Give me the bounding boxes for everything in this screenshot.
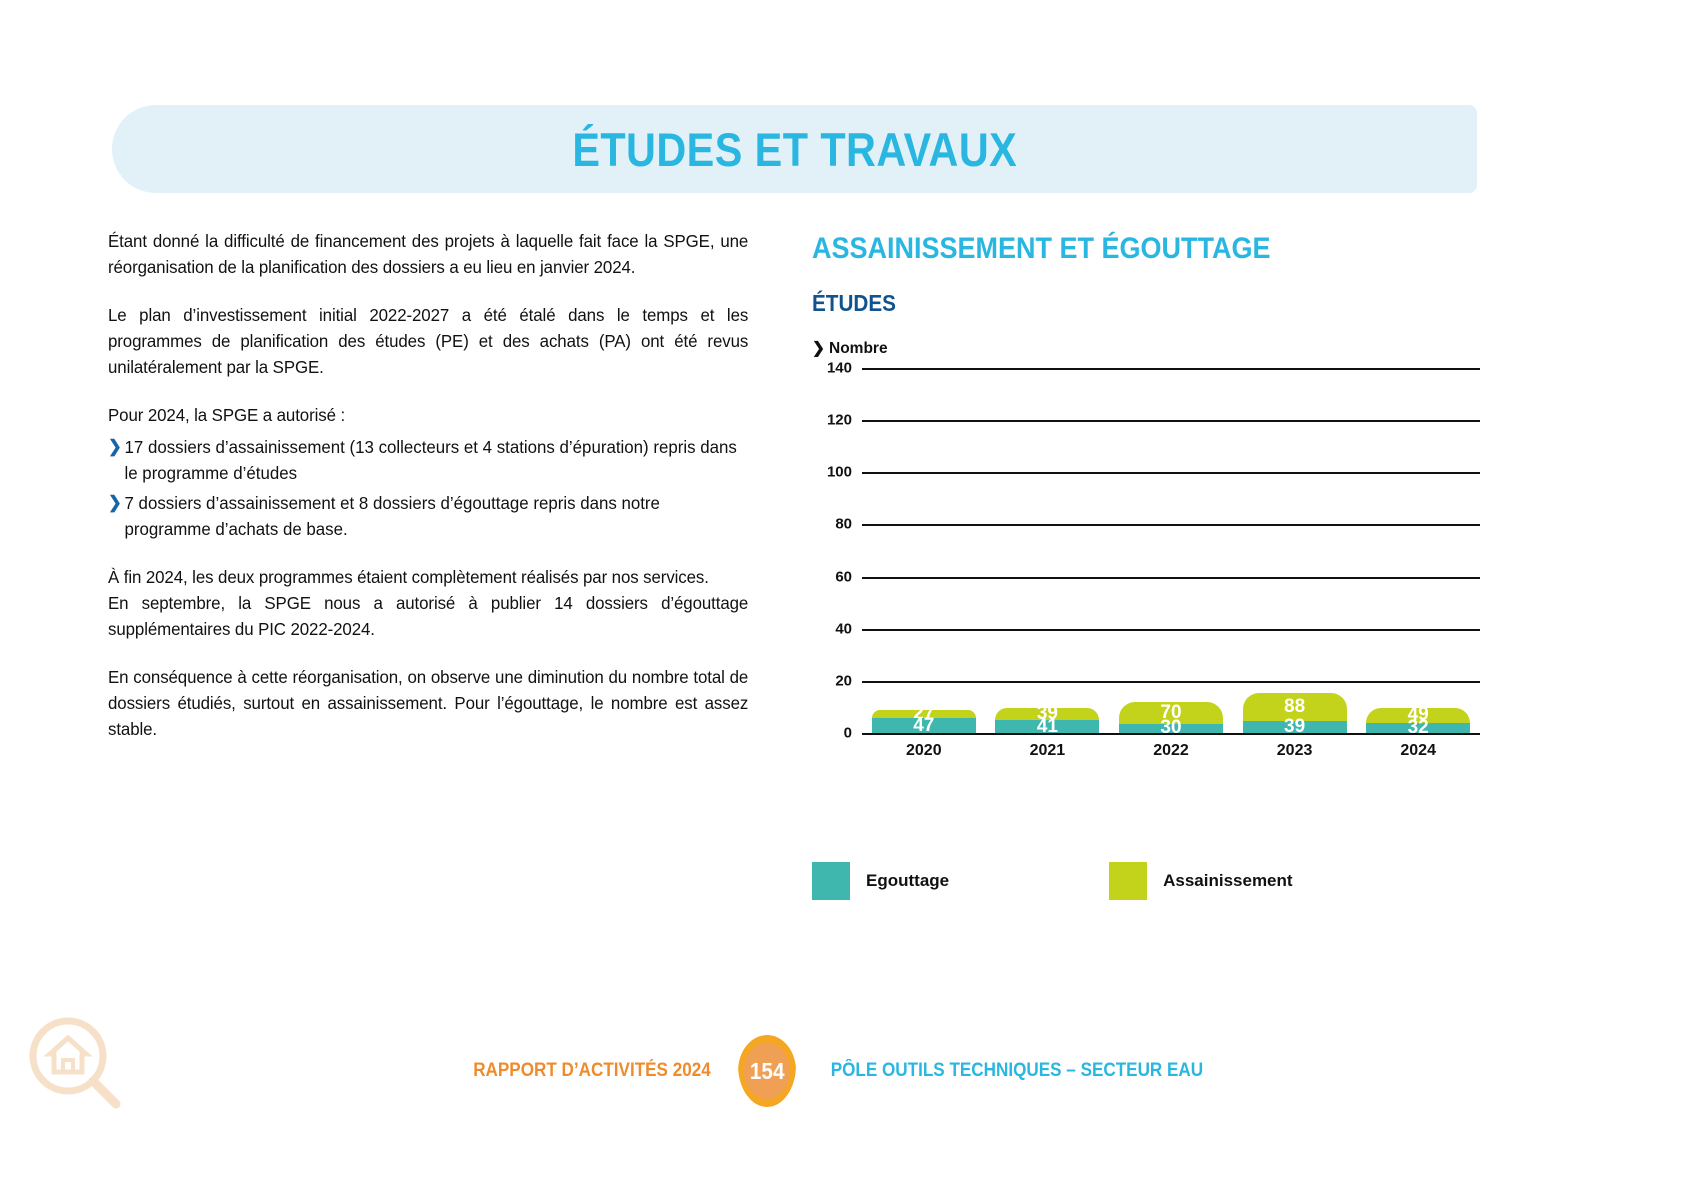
chart-legend: Egouttage Assainissement (812, 862, 1293, 900)
list-item-label: 17 dossiers d’assainissement (13 collect… (124, 434, 748, 486)
bar-group: 2747202039412021703020228839202349322024 (862, 368, 1480, 733)
y-axis-caption: ❯Nombre (812, 339, 1492, 358)
stacked-bar[interactable]: 2747 (872, 689, 976, 733)
bar-segment-egouttage[interactable]: 41 (995, 720, 1099, 733)
bar-segment-egouttage[interactable]: 39 (1243, 721, 1347, 733)
legend-swatch-icon (812, 862, 850, 900)
section-title: ASSAINISSEMENT ET ÉGOUTTAGE (812, 232, 1424, 266)
stacked-bar[interactable]: 8839 (1243, 689, 1347, 733)
x-axis-tick-label: 2024 (1356, 742, 1480, 760)
y-axis-tick-label: 60 (835, 568, 852, 585)
page-number: 154 (750, 1058, 785, 1085)
stacked-bar[interactable]: 7030 (1119, 689, 1223, 733)
chevron-right-icon: ❯ (812, 340, 825, 357)
list-item: ❯ 17 dossiers d’assainissement (13 colle… (108, 434, 748, 486)
x-axis-tick-label: 2021 (986, 742, 1110, 760)
bar-segment-egouttage[interactable]: 32 (1366, 723, 1470, 733)
legend-label: Assainissement (1163, 871, 1292, 891)
y-axis-tick-label: 0 (844, 725, 852, 742)
y-axis-tick-label: 140 (827, 360, 852, 377)
y-axis-tick-label: 20 (835, 672, 852, 689)
footer-department-label: PÔLE OUTILS TECHNIQUES – SECTEUR EAU (831, 1060, 1203, 1082)
stacked-bar[interactable]: 4932 (1366, 689, 1470, 733)
paragraph-4: À fin 2024, les deux programmes étaient … (108, 564, 748, 590)
arrow-bullet-icon: ❯ (108, 434, 124, 460)
y-axis-caption-label: Nombre (829, 340, 888, 357)
arrow-bullet-icon: ❯ (108, 490, 124, 516)
footer-report-label: RAPPORT D’ACTIVITÉS 2024 (473, 1060, 711, 1082)
paragraph-6: En conséquence à cette réorganisation, o… (108, 664, 748, 742)
subsection-title: ÉTUDES (812, 290, 1424, 317)
legend-swatch-icon (1109, 862, 1147, 900)
bar-slot-2024[interactable]: 49322024 (1356, 368, 1480, 733)
x-axis-tick-label: 2023 (1233, 742, 1357, 760)
page-title: ÉTUDES ET TRAVAUX (572, 122, 1017, 177)
y-axis-tick-label: 100 (827, 464, 852, 481)
page-footer: RAPPORT D’ACTIVITÉS 2024 154 PÔLE OUTILS… (0, 1036, 1684, 1106)
page-number-badge: 154 (738, 1035, 796, 1107)
bar-slot-2020[interactable]: 27472020 (862, 368, 986, 733)
legend-item-egouttage: Egouttage (812, 862, 949, 900)
list-item-label: 7 dossiers d’assainissement et 8 dossier… (124, 490, 748, 542)
report-page: ÉTUDES ET TRAVAUX Étant donné la difficu… (0, 0, 1684, 1191)
bar-slot-2022[interactable]: 70302022 (1109, 368, 1233, 733)
stacked-bar[interactable]: 3941 (995, 689, 1099, 733)
plot-area: 140120100806040200 274720203941202170302… (862, 368, 1480, 733)
x-axis-tick-label: 2020 (862, 742, 986, 760)
page-header-banner: ÉTUDES ET TRAVAUX (112, 105, 1477, 193)
left-text-column: Étant donné la difficulté de financement… (108, 228, 768, 764)
legend-label: Egouttage (866, 871, 949, 891)
legend-item-assainissement: Assainissement (1109, 862, 1292, 900)
stacked-bar-chart: 140120100806040200 274720203941202170302… (812, 368, 1480, 763)
x-axis-tick-label: 2022 (1109, 742, 1233, 760)
bar-slot-2023[interactable]: 88392023 (1233, 368, 1357, 733)
y-axis-tick-label: 120 (827, 412, 852, 429)
paragraph-5: En septembre, la SPGE nous a autorisé à … (108, 590, 748, 642)
paragraph-1: Étant donné la difficulté de financement… (108, 228, 748, 280)
bar-slot-2021[interactable]: 39412021 (986, 368, 1110, 733)
paragraph-2: Le plan d’investissement initial 2022-20… (108, 302, 748, 380)
bar-segment-egouttage[interactable]: 30 (1119, 724, 1223, 733)
bar-segment-egouttage[interactable]: 47 (872, 718, 976, 733)
y-axis-tick-label: 80 (835, 516, 852, 533)
paragraph-3: Pour 2024, la SPGE a autorisé : (108, 402, 748, 428)
authorized-dossiers-list: ❯ 17 dossiers d’assainissement (13 colle… (108, 434, 768, 542)
list-item: ❯ 7 dossiers d’assainissement et 8 dossi… (108, 490, 748, 542)
chart-column: ASSAINISSEMENT ET ÉGOUTTAGE ÉTUDES ❯Nomb… (812, 232, 1492, 763)
y-axis-tick-label: 40 (835, 620, 852, 637)
